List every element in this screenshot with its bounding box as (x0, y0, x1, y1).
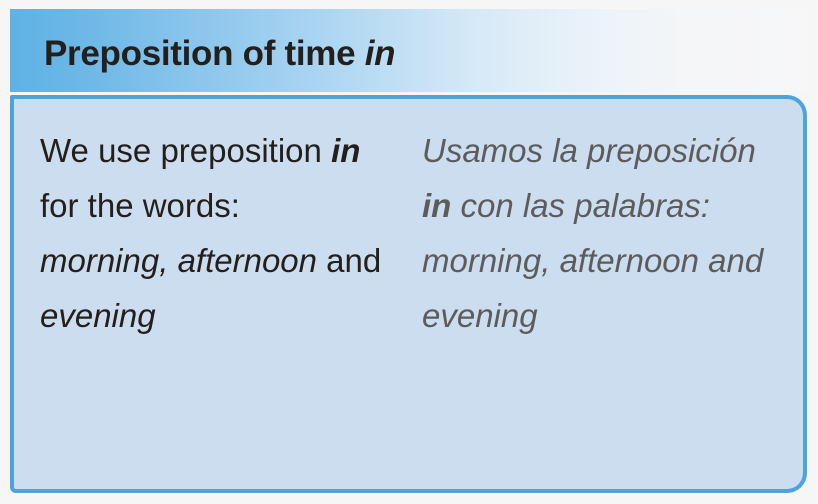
page-title-keyword: in (355, 34, 395, 73)
spanish-word-evening: evening (422, 297, 538, 334)
english-lead-before: We use preposition (40, 132, 331, 169)
spanish-word-morning: morning, (422, 242, 550, 279)
english-word-afternoon: afternoon (178, 242, 317, 279)
spanish-conjunction: and (699, 242, 763, 279)
spanish-column: Usamos la preposición in con las palabra… (422, 123, 782, 343)
bilingual-columns: We use preposition in for the words: mor… (14, 99, 803, 489)
spanish-lead-paragraph: Usamos la preposición in con las palabra… (422, 123, 782, 233)
english-lead-paragraph: We use preposition in for the words: (40, 123, 390, 233)
page-title: Preposition of time in (44, 36, 395, 71)
english-word-morning: morning, (40, 242, 168, 279)
english-column: We use preposition in for the words: mor… (40, 123, 390, 343)
spanish-keyword-in: in (422, 187, 451, 224)
spanish-lead-before: Usamos la preposición (422, 132, 756, 169)
spanish-word-afternoon: afternoon (560, 242, 699, 279)
lesson-card: Preposition of time in We use prepositio… (0, 0, 818, 504)
spanish-word-list: morning, afternoon and evening (422, 233, 782, 343)
page-title-keyword-text: in (365, 34, 396, 73)
english-word-evening: evening (40, 297, 156, 334)
english-lead-after: for the words: (40, 187, 240, 224)
page-title-main: Preposition of time (44, 34, 355, 73)
header-banner: Preposition of time in (10, 9, 808, 92)
content-panel: We use preposition in for the words: mor… (10, 95, 807, 493)
english-conjunction: and (317, 242, 381, 279)
spanish-lead-after: con las palabras: (451, 187, 710, 224)
english-keyword-in: in (331, 132, 360, 169)
english-word-list: morning, afternoon and evening (40, 233, 390, 343)
